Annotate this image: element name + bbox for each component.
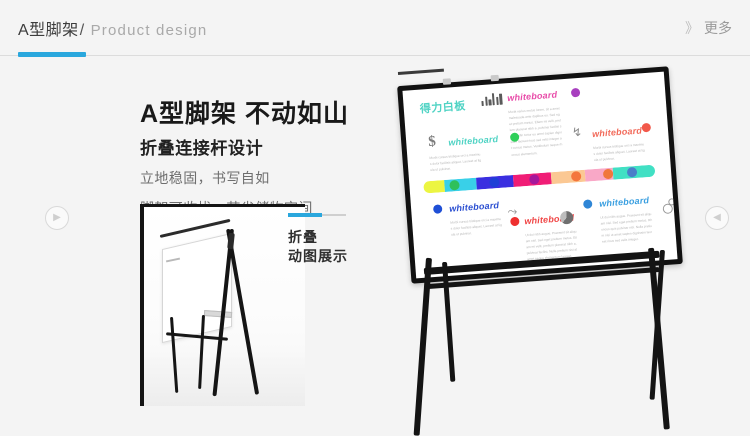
rainbow-dot-0: [449, 180, 460, 191]
demo-rule-accent: [288, 213, 322, 217]
chevron-left-icon: ◀: [713, 213, 721, 223]
infographic-dot-6: [583, 199, 593, 209]
rainbow-dot-3: [571, 171, 582, 182]
infographic-dot-3: [641, 123, 651, 133]
rainbow-dot-2: [529, 174, 540, 185]
product-photo-folded-easel: [140, 204, 305, 406]
header-accent-bar: [18, 52, 86, 57]
bar-chart-icon: [481, 92, 503, 106]
infographic-dot-4: [433, 204, 443, 214]
product-hero-easel: 得力白板 whiteboard Morbi varius metus lorem…: [398, 72, 698, 402]
easel-leg-front-left: [414, 258, 432, 436]
more-link[interactable]: 》 更多: [685, 18, 732, 38]
double-chevron-right-icon: 》: [685, 18, 697, 38]
page-title: A型脚架/ Product design: [18, 16, 207, 40]
infographic-dot-1: [571, 88, 581, 98]
copy-block: A型脚架 不动如山 折叠连接杆设计 立地稳固，书写自如 脚架可收拢，节省储物空间: [140, 100, 380, 219]
product-detail-page: A型脚架/ Product design 》 更多 A型脚架 不动如山 折叠连接…: [0, 0, 750, 406]
copy-line-1: 立地稳固，书写自如: [140, 168, 380, 189]
demo-label-line-2: 动图展示: [288, 247, 380, 266]
whiteboard-surface: 得力白板 whiteboard Morbi varius metus lorem…: [402, 72, 677, 279]
rainbow-dot-5: [627, 167, 638, 178]
chevron-right-icon: ▶: [53, 213, 61, 223]
headline: A型脚架 不动如山: [140, 100, 380, 129]
carousel-next-button[interactable]: ▶: [45, 206, 69, 230]
more-label: 更多: [704, 18, 732, 38]
rainbow-dot-4: [603, 169, 614, 180]
page-title-slash: /: [79, 22, 86, 39]
infographic-body-4: Morbi cursus tristique orci a maximus do…: [450, 216, 503, 238]
dollar-icon: $: [428, 135, 437, 151]
arrow-up-icon: ⤳: [507, 205, 517, 218]
infographic-body-6: Ut dui nibh augue. Praesent sit aliquam …: [600, 211, 654, 245]
infographic-dot-5: [510, 217, 520, 227]
demo-rule-gray: [322, 214, 346, 216]
infographic-word-6: whiteboard: [599, 195, 650, 209]
page-title-en: Product design: [91, 22, 208, 39]
infographic-word-4: whiteboard: [449, 200, 500, 214]
infographic-body-2: Morbi cursus tristique orci a maximus do…: [429, 151, 482, 173]
photo-floor: [144, 357, 305, 406]
easel-tray-highlight: [398, 69, 444, 75]
rings-icon: [660, 198, 675, 213]
carousel-prev-button[interactable]: ◀: [705, 206, 729, 230]
zigzag-arrow-icon: ↯: [572, 126, 583, 139]
demo-label-rule: [288, 213, 380, 217]
infographic-word-3: whiteboard: [592, 125, 643, 139]
infographic-word-2: whiteboard: [448, 134, 499, 148]
subheadline: 折叠连接杆设计: [140, 139, 380, 159]
page-title-cn: A型脚架: [18, 22, 79, 39]
infographic-body-3: Morbi cursus tristique orci a maximus do…: [593, 141, 646, 163]
infographic-body-1: Morbi varius metus lorem, sit a amet mal…: [508, 105, 563, 157]
infographic-title: 得力白板: [419, 97, 466, 116]
infographic: 得力白板 whiteboard Morbi varius metus lorem…: [402, 72, 677, 279]
infographic-word-1: whiteboard: [507, 90, 558, 104]
rainbow-dot-1: [489, 177, 500, 188]
page-header: A型脚架/ Product design 》 更多: [0, 0, 750, 56]
header-divider: [0, 55, 750, 56]
demo-label-block: 折叠 动图展示: [288, 213, 380, 267]
demo-label-line-1: 折叠: [288, 228, 380, 247]
